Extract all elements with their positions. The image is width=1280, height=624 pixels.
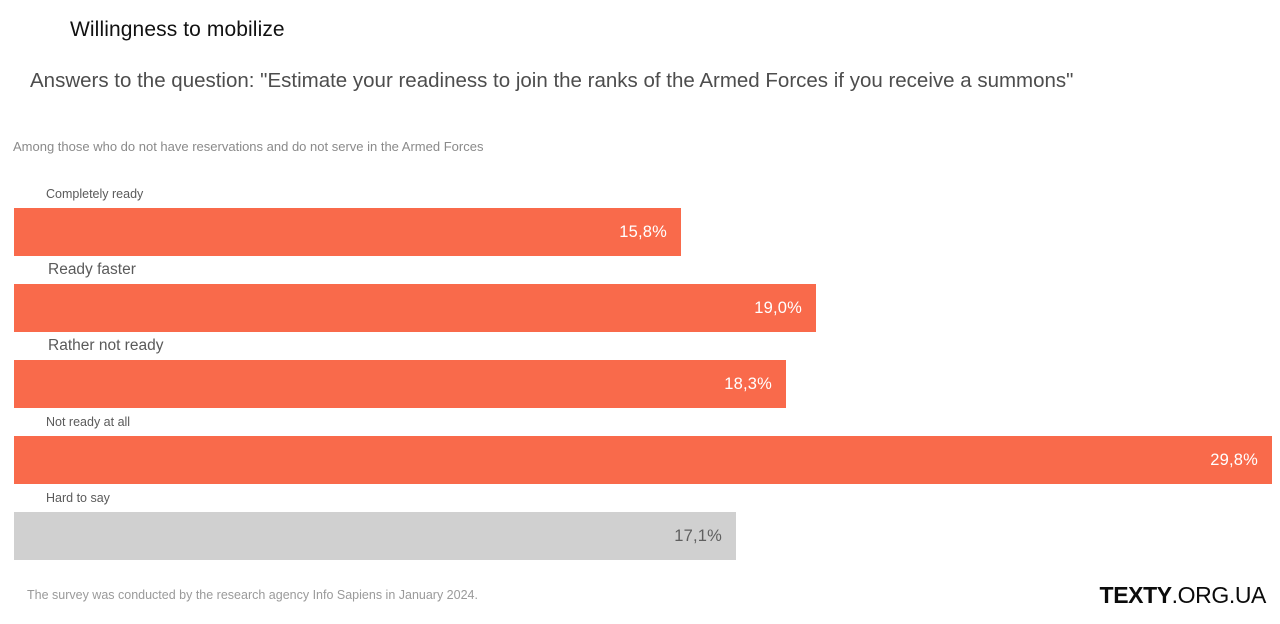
chart-subtitle: Answers to the question: "Estimate your … — [30, 67, 1073, 94]
chart-canvas: Willingness to mobilize Answers to the q… — [0, 0, 1280, 624]
bar[interactable]: 29,8% — [14, 436, 1272, 484]
bar-chart-plot: Completely ready15,8%Ready faster19,0%Ra… — [0, 186, 1280, 564]
brand-name: TEXTY — [1100, 582, 1172, 608]
bar[interactable]: 18,3% — [14, 360, 786, 408]
bar-category-label: Hard to say — [46, 490, 110, 507]
bar-category-label: Rather not ready — [48, 336, 163, 355]
bar-row: Hard to say17,1% — [0, 490, 1280, 566]
bar[interactable]: 19,0% — [14, 284, 816, 332]
texty-logo: TEXTY.ORG.UA — [1100, 581, 1266, 609]
bar[interactable]: 15,8% — [14, 208, 681, 256]
bar[interactable]: 17,1% — [14, 512, 736, 560]
bar-row: Ready faster19,0% — [0, 262, 1280, 338]
source-note: The survey was conducted by the research… — [27, 587, 478, 603]
brand-tld: .ORG.UA — [1172, 582, 1266, 608]
bar-row: Completely ready15,8% — [0, 186, 1280, 262]
bar-row: Rather not ready18,3% — [0, 338, 1280, 414]
bar-row: Not ready at all29,8% — [0, 414, 1280, 490]
chart-sample-note: Among those who do not have reservations… — [13, 138, 483, 155]
bar-value-label: 15,8% — [619, 223, 681, 242]
bar-category-label: Ready faster — [48, 260, 136, 279]
bar-value-label: 29,8% — [1210, 451, 1272, 470]
bar-value-label: 17,1% — [674, 527, 736, 546]
bar-category-label: Completely ready — [46, 186, 143, 203]
bar-value-label: 19,0% — [754, 299, 816, 318]
bar-value-label: 18,3% — [724, 375, 786, 394]
bar-category-label: Not ready at all — [46, 414, 130, 431]
page-title: Willingness to mobilize — [70, 17, 285, 43]
